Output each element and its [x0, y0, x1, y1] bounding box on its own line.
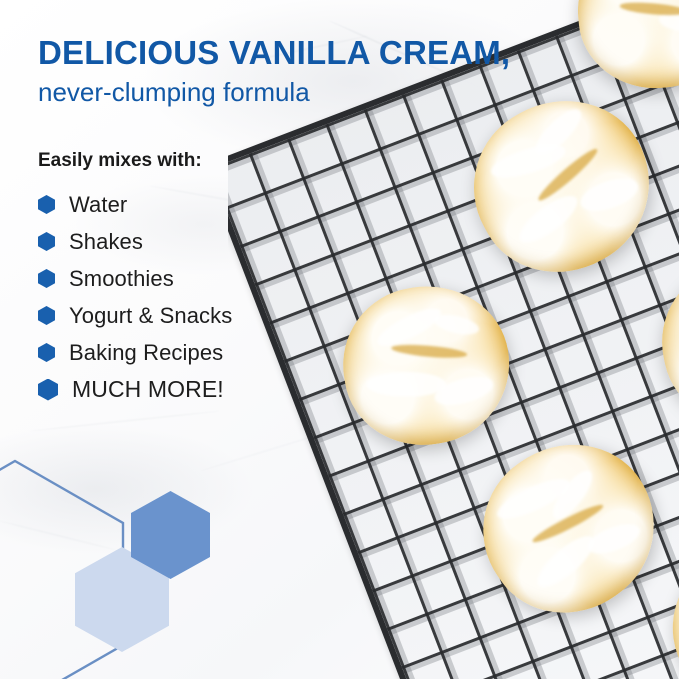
list-item: Shakes — [38, 223, 232, 260]
hexagon-bullet-icon — [38, 306, 55, 325]
headline-line1: DELICIOUS VANILLA CREAM, — [38, 36, 510, 71]
list-item-label: MUCH MORE! — [72, 376, 224, 403]
list-item: Smoothies — [38, 260, 232, 297]
list-item-label: Smoothies — [69, 266, 174, 292]
hexagon-bullet-icon — [38, 269, 55, 288]
hexagon-bullet-icon — [38, 195, 55, 214]
list-item: MUCH MORE! — [38, 371, 232, 408]
list-item: Yogurt & Snacks — [38, 297, 232, 334]
list-item-label: Yogurt & Snacks — [69, 303, 232, 329]
mixes-list: Water Shakes Smoothies Yogurt & Snacks B… — [38, 186, 232, 408]
hexagon-bullet-icon — [38, 232, 55, 251]
mixes-title: Easily mixes with: — [38, 150, 202, 172]
list-item-label: Shakes — [69, 229, 143, 255]
hexagon-bullet-icon — [38, 379, 58, 401]
list-item: Water — [38, 186, 232, 223]
list-item-label: Water — [69, 192, 127, 218]
product-banner: DELICIOUS VANILLA CREAM, never-clumping … — [0, 0, 679, 679]
list-item-label: Baking Recipes — [69, 340, 223, 366]
hexagon-bullet-icon — [38, 343, 55, 362]
list-item: Baking Recipes — [38, 334, 232, 371]
headline-line2: never-clumping formula — [38, 78, 310, 107]
